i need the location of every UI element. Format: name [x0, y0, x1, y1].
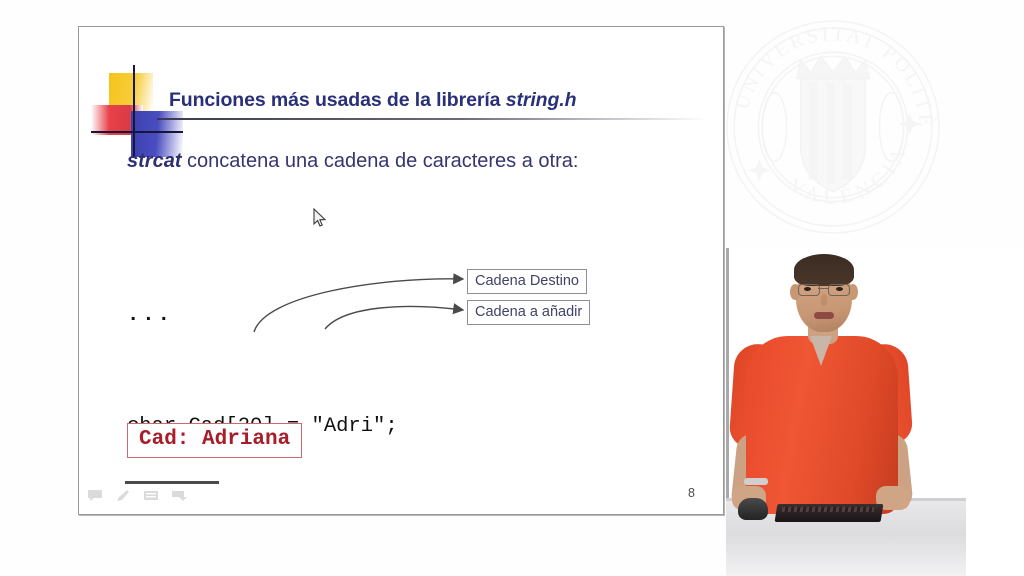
wristwatch	[744, 478, 768, 485]
slide-title: Funciones más usadas de la librería stri…	[169, 89, 709, 112]
callout-cadena-destino: Cadena Destino	[467, 269, 587, 294]
code-line-ellipsis-top: ...	[127, 297, 687, 334]
speech-bubble-icon[interactable]	[87, 489, 103, 502]
code-block: ... char Cad[20] = "Adri"; strcat(Cad, "…	[127, 223, 687, 515]
mouth	[814, 312, 834, 319]
slide-title-main: Funciones más usadas de la librería	[169, 89, 506, 111]
menu-icon[interactable]	[171, 489, 187, 502]
callout-cadena-anadir: Cadena a añadir	[467, 300, 590, 325]
presenter-hair	[794, 254, 854, 286]
slide-paragraph: strcat concatena una cadena de caractere…	[127, 147, 667, 176]
deco-vertical-line	[133, 65, 135, 157]
glasses-icon	[798, 284, 850, 294]
presentation-toolbar[interactable]	[87, 489, 187, 502]
upv-seal-watermark: UNIVERSITAT POLITÈCNICA VALÈNCIA	[722, 16, 944, 238]
screen-root: UNIVERSITAT POLITÈCNICA VALÈNCIA Funcion…	[0, 0, 1024, 576]
title-underline-rule	[157, 118, 707, 120]
slide-frame: Funciones más usadas de la librería stri…	[78, 26, 724, 515]
nose	[821, 294, 827, 306]
pen-icon[interactable]	[115, 489, 131, 502]
slide-page-number: 8	[688, 486, 695, 500]
mouse-cursor-icon	[313, 208, 327, 228]
slide-title-italic: string.h	[506, 89, 577, 111]
slides-icon[interactable]	[143, 489, 159, 502]
presenter-video-region	[726, 248, 1024, 576]
footer-rule	[125, 481, 219, 484]
keyboard-keys	[782, 507, 875, 512]
program-output-box: Cad: Adriana	[127, 423, 302, 458]
paragraph-keyword: strcat	[127, 150, 181, 172]
computer-mouse	[738, 498, 768, 520]
svg-text:UNIVERSITAT POLITÈCNICA: UNIVERSITAT POLITÈCNICA	[722, 16, 938, 130]
paragraph-text: concatena una cadena de caracteres a otr…	[181, 150, 578, 172]
deco-horizontal-line	[91, 131, 183, 133]
svg-text:VALÈNCIA: VALÈNCIA	[785, 140, 912, 209]
